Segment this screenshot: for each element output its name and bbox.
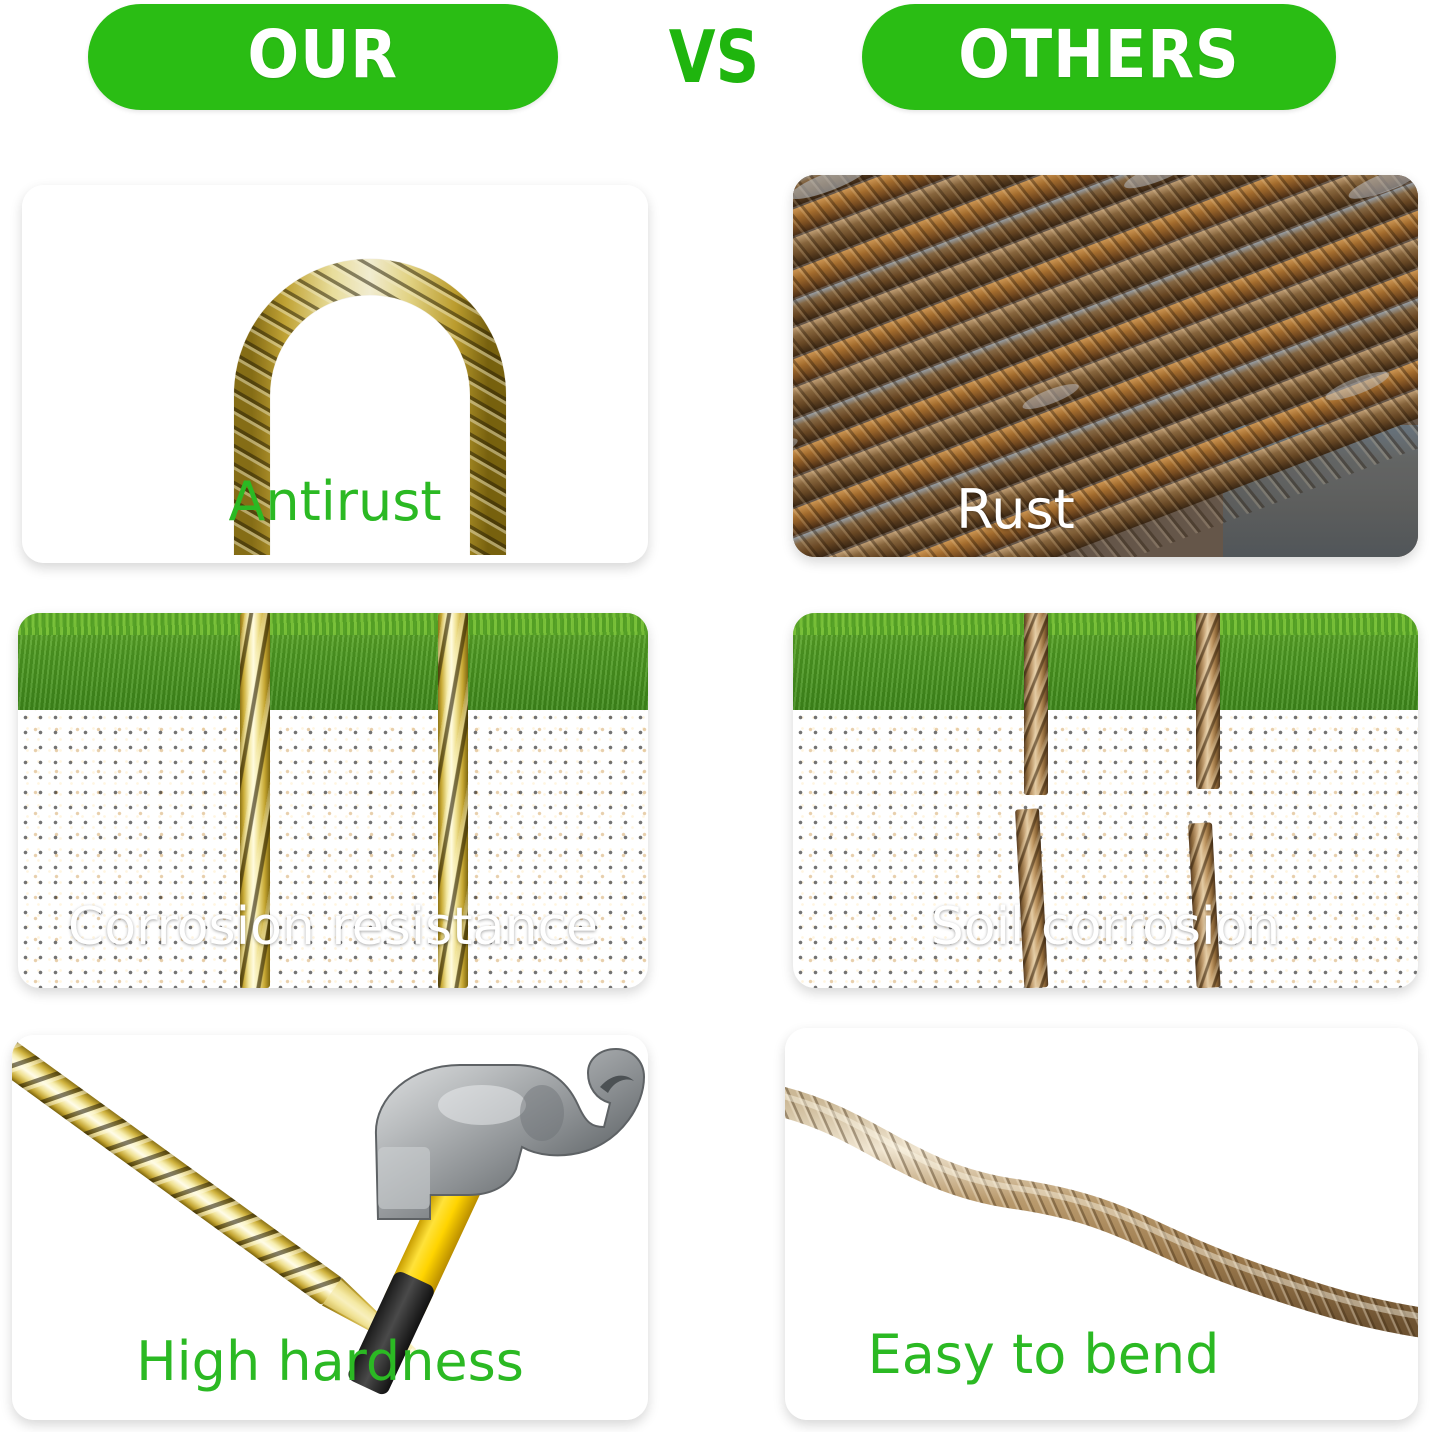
card-soil-corrosion: Soil corrosion [793,613,1418,988]
our-pill: OUR [88,4,558,110]
antirust-artwork: Antirust [22,185,648,563]
vs-label: VS [643,4,786,116]
soil-corrosion-artwork: Soil corrosion [793,613,1418,988]
easy-to-bend-artwork: Easy to bend [785,1028,1418,1420]
caption-antirust: Antirust [22,475,648,529]
rust-artwork: Rust [793,175,1418,557]
caption-corrosion-resistance: Corrosion resistance [18,901,648,953]
caption-easy-to-bend: Easy to bend [785,1328,1360,1382]
grass-blades [18,613,648,635]
card-easy-to-bend: Easy to bend [785,1028,1418,1420]
grass-layer [18,613,648,710]
caption-soil-corrosion: Soil corrosion [793,901,1418,953]
grass-blades [793,613,1418,635]
others-pill-label: OTHERS [958,22,1239,92]
rust-stake-ribs [1196,613,1220,789]
our-pill-label: OUR [248,22,398,92]
comparison-header: OUR VS OTHERS [0,0,1445,120]
others-pill: OTHERS [862,4,1336,110]
corrosion-resistance-artwork: Corrosion resistance [18,613,648,988]
rusted-stake-left-upper [1024,613,1048,795]
grass-layer [793,613,1418,710]
rusted-stake-right-upper [1196,613,1220,789]
card-rust: Rust [793,175,1418,557]
card-corrosion-resistance: Corrosion resistance [18,613,648,988]
caption-high-hardness: High hardness [12,1335,648,1389]
rust-stake-ribs [1024,613,1048,795]
high-hardness-artwork: High hardness [12,1035,648,1420]
card-antirust: Antirust [22,185,648,563]
card-high-hardness: High hardness [12,1035,648,1420]
caption-rust: Rust [793,483,1328,537]
